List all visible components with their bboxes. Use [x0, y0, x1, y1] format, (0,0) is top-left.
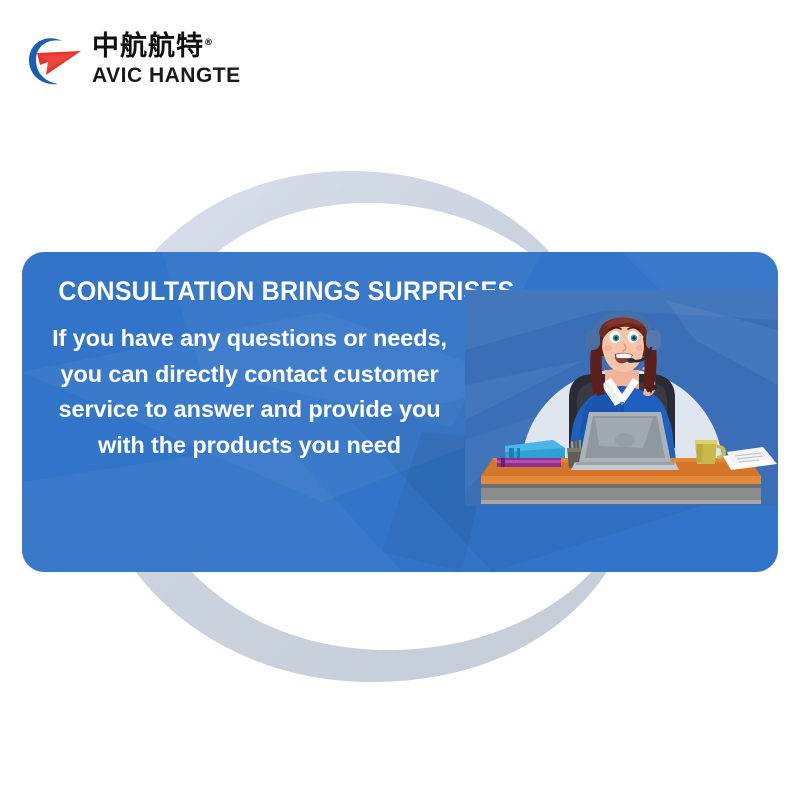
brand-name-en: AVIC HANGTE [92, 65, 241, 86]
brand-logo[interactable]: 中航航特® AVIC HANGTE [26, 33, 241, 86]
promo-card: CONSULTATION BRINGS SURPRISES If you hav… [22, 252, 778, 572]
brand-name-cn-wrapper: 中航航特® [92, 33, 241, 60]
customer-service-agent-illustration [465, 290, 778, 506]
promo-banner-page: 中航航特® AVIC HANGTE CONSULTATION BRINGS SU… [0, 0, 800, 800]
brand-name-cn: 中航航特 [92, 31, 204, 62]
brand-logo-text: 中航航特® AVIC HANGTE [92, 33, 241, 86]
card-text-column: CONSULTATION BRINGS SURPRISES If you hav… [22, 252, 465, 572]
card-headline: CONSULTATION BRINGS SURPRISES [58, 276, 440, 307]
card-illustration-column [465, 252, 778, 572]
registered-trademark-icon: ® [204, 38, 214, 48]
card-body-text: If you have any questions or needs, you … [44, 321, 455, 464]
avic-swoosh-logo-icon [26, 34, 84, 86]
